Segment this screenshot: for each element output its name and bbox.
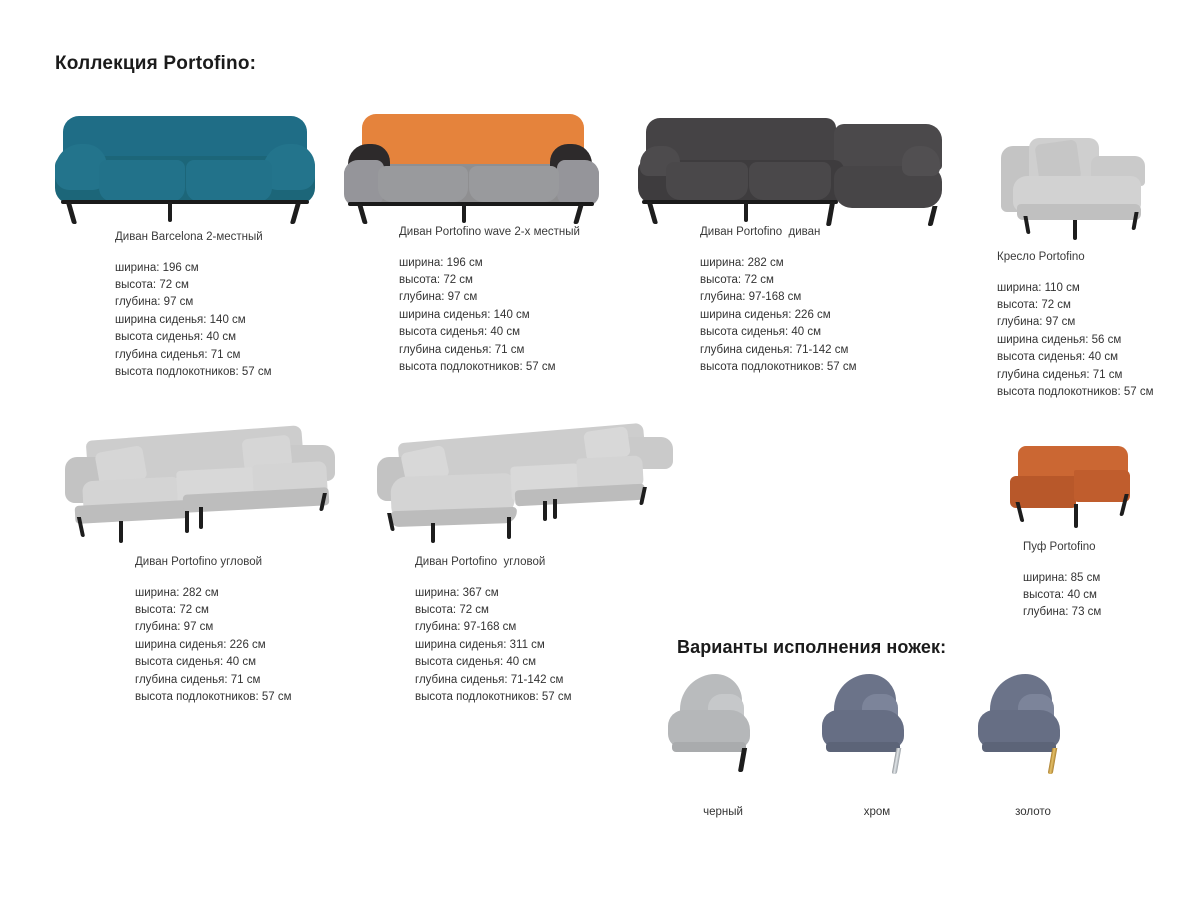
sofa-leg	[431, 523, 435, 543]
sofa-leg	[744, 202, 748, 222]
spec-height: высота: 72 см	[399, 272, 664, 289]
leg-variant-gold[interactable]: золото	[968, 668, 1098, 818]
product-specs: ширина: 110 см высота: 72 см глубина: 97…	[997, 280, 1197, 402]
sofa-leg	[543, 501, 547, 521]
product-image-pouf-portofino	[1023, 438, 1198, 540]
spec-seat-width: ширина сиденья: 140 см	[115, 312, 380, 329]
spec-armrest-height: высота подлокотников: 57 см	[135, 689, 400, 706]
spec-armrest-height: высота подлокотников: 57 см	[115, 364, 380, 381]
spec-armrest-height: высота подлокотников: 57 см	[399, 359, 664, 376]
catalog-page: Коллекция Portofino: Варианты исполнения…	[0, 0, 1202, 902]
product-card-pouf-portofino[interactable]: Пуф Portofino ширина: 85 см высота: 40 с…	[1023, 438, 1198, 622]
spec-seat-width: ширина сиденья: 56 см	[997, 332, 1197, 349]
spec-depth: глубина: 97-168 см	[700, 289, 965, 306]
spec-height: высота: 72 см	[997, 297, 1197, 314]
legs-section-title: Варианты исполнения ножек:	[677, 637, 946, 658]
product-image-sofa-barcelona-2	[115, 110, 380, 230]
sofa-leg	[928, 206, 938, 226]
sofa-leg	[290, 202, 301, 224]
leg-variant-label: черный	[658, 806, 788, 818]
spec-seat-height: высота сиденья: 40 см	[115, 329, 380, 346]
spec-seat-height: высота сиденья: 40 см	[399, 324, 664, 341]
page-title: Коллекция Portofino:	[55, 53, 256, 75]
spec-depth: глубина: 97 см	[997, 314, 1197, 331]
product-card-sofa-barcelona-2[interactable]: Диван Barcelona 2-местный ширина: 196 см…	[115, 110, 380, 382]
spec-width: ширина: 282 см	[135, 585, 400, 602]
spec-width: ширина: 85 см	[1023, 570, 1198, 587]
spec-width: ширина: 282 см	[700, 255, 965, 272]
spec-seat-depth: глубина сиденья: 71 см	[399, 342, 664, 359]
leg-variant-label: хром	[812, 806, 942, 818]
spec-seat-depth: глубина сиденья: 71 см	[115, 347, 380, 364]
spec-seat-width: ширина сиденья: 226 см	[700, 307, 965, 324]
product-card-sofa-portofino-corner-367[interactable]: Диван Portofino угловой ширина: 367 см в…	[415, 415, 680, 707]
spec-height: высота: 40 см	[1023, 587, 1198, 604]
leg-variant-black[interactable]: черный	[658, 668, 788, 818]
sofa-leg	[462, 204, 466, 223]
spec-armrest-height: высота подлокотников: 57 см	[415, 689, 680, 706]
spec-seat-depth: глубина сиденья: 71 см	[135, 672, 400, 689]
product-specs: ширина: 85 см высота: 40 см глубина: 73 …	[1023, 570, 1198, 622]
pouf-leg	[1074, 504, 1078, 528]
product-specs: ширина: 196 см высота: 72 см глубина: 97…	[115, 260, 380, 382]
product-image-armchair-portofino	[997, 118, 1197, 250]
sofa-leg	[573, 204, 584, 224]
sofa-leg	[119, 521, 123, 543]
spec-width: ширина: 196 см	[399, 255, 664, 272]
armchair-leg	[1073, 220, 1077, 240]
leg-variant-image-black	[658, 668, 788, 786]
spec-width: ширина: 196 см	[115, 260, 380, 277]
product-specs: ширина: 282 см высота: 72 см глубина: 97…	[700, 255, 965, 377]
product-name: Диван Portofino угловой	[415, 555, 680, 571]
spec-armrest-height: высота подлокотников: 57 см	[997, 384, 1197, 401]
spec-height: высота: 72 см	[135, 602, 400, 619]
spec-seat-width: ширина сиденья: 311 см	[415, 637, 680, 654]
sofa-leg	[199, 507, 203, 529]
spec-depth: глубина: 97 см	[135, 619, 400, 636]
product-image-sofa-portofino-wave-2	[399, 110, 664, 225]
spec-depth: глубина: 97 см	[115, 294, 380, 311]
product-card-sofa-portofino-divan[interactable]: Диван Portofino диван ширина: 282 см выс…	[700, 110, 965, 377]
product-name: Диван Portofino диван	[700, 225, 965, 241]
spec-width: ширина: 110 см	[997, 280, 1197, 297]
sofa-leg	[185, 511, 189, 533]
sofa-leg	[553, 499, 557, 519]
leg-variant-label: золото	[968, 806, 1098, 818]
spec-height: высота: 72 см	[415, 602, 680, 619]
leg-variant-image-chrome	[812, 668, 942, 786]
spec-seat-height: высота сиденья: 40 см	[997, 349, 1197, 366]
spec-height: высота: 72 см	[700, 272, 965, 289]
leg-variant-chrome[interactable]: хром	[812, 668, 942, 818]
product-specs: ширина: 367 см высота: 72 см глубина: 97…	[415, 585, 680, 707]
spec-depth: глубина: 97 см	[399, 289, 664, 306]
spec-seat-depth: глубина сиденья: 71 см	[997, 367, 1197, 384]
sofa-leg	[507, 517, 511, 539]
sofa-leg	[168, 202, 172, 222]
spec-height: высота: 72 см	[115, 277, 380, 294]
spec-depth: глубина: 97-168 см	[415, 619, 680, 636]
spec-seat-height: высота сиденья: 40 см	[415, 654, 680, 671]
product-name: Пуф Portofino	[1023, 540, 1198, 556]
product-image-sofa-portofino-corner-367	[415, 415, 680, 555]
spec-seat-height: высота сиденья: 40 см	[700, 324, 965, 341]
spec-armrest-height: высота подлокотников: 57 см	[700, 359, 965, 376]
product-image-sofa-portofino-corner-282	[135, 415, 400, 555]
product-name: Диван Barcelona 2-местный	[115, 230, 380, 246]
spec-seat-width: ширина сиденья: 140 см	[399, 307, 664, 324]
spec-seat-height: высота сиденья: 40 см	[135, 654, 400, 671]
product-image-sofa-portofino-divan	[700, 110, 965, 225]
spec-seat-depth: глубина сиденья: 71-142 см	[700, 342, 965, 359]
sofa-leg	[647, 202, 658, 224]
spec-seat-depth: глубина сиденья: 71-142 см	[415, 672, 680, 689]
spec-seat-width: ширина сиденья: 226 см	[135, 637, 400, 654]
product-name: Диван Portofino угловой	[135, 555, 400, 571]
spec-width: ширина: 367 см	[415, 585, 680, 602]
spec-depth: глубина: 73 см	[1023, 604, 1198, 621]
sofa-leg	[66, 202, 77, 224]
product-name: Кресло Portofino	[997, 250, 1197, 266]
sofa-leg	[357, 204, 368, 224]
product-name: Диван Portofino wave 2-х местный	[399, 225, 664, 241]
sofa-leg	[826, 202, 835, 226]
product-card-sofa-portofino-corner-282[interactable]: Диван Portofino угловой ширина: 282 см в…	[135, 415, 400, 707]
leg-variant-image-gold	[968, 668, 1098, 786]
product-card-sofa-portofino-wave-2[interactable]: Диван Portofino wave 2-х местный ширина:…	[399, 110, 664, 377]
product-specs: ширина: 282 см высота: 72 см глубина: 97…	[135, 585, 400, 707]
product-card-armchair-portofino[interactable]: Кресло Portofino ширина: 110 см высота: …	[997, 118, 1197, 402]
product-specs: ширина: 196 см высота: 72 см глубина: 97…	[399, 255, 664, 377]
